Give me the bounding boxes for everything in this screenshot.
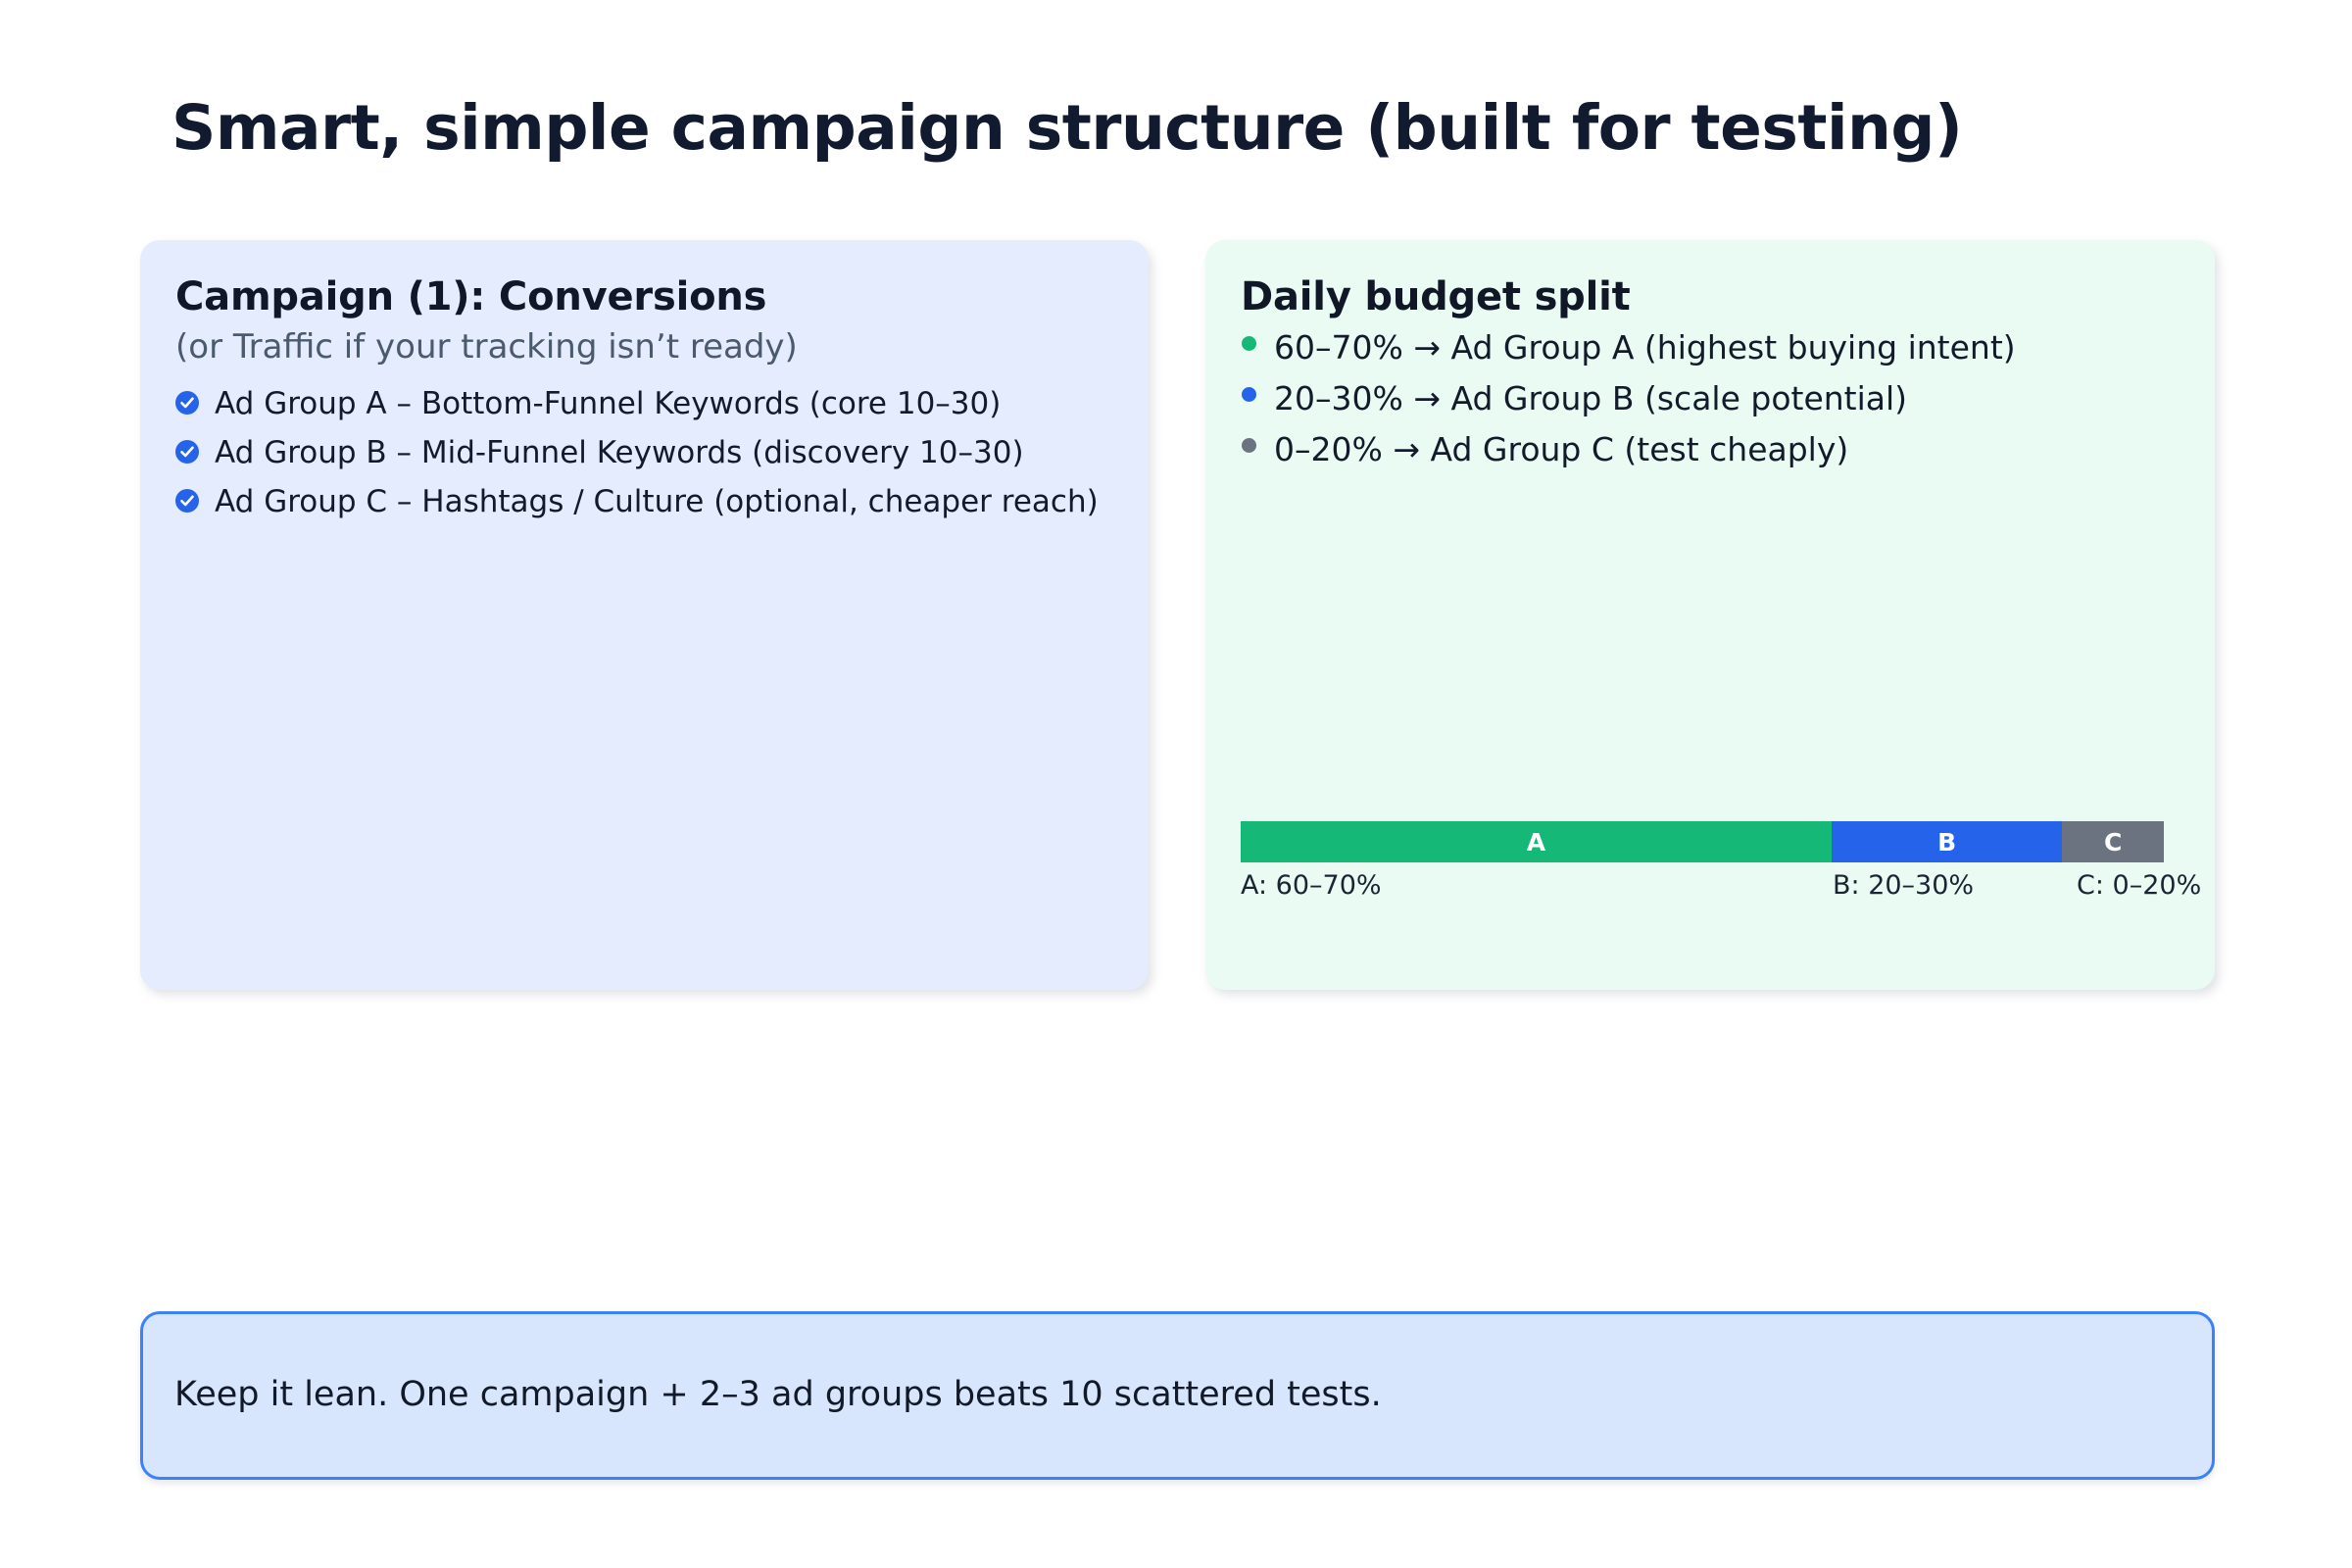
list-item: Ad Group A – Bottom-Funnel Keywords (cor… bbox=[175, 384, 1113, 424]
bar-segment-b: B bbox=[1832, 821, 2063, 862]
list-item: 60–70% → Ad Group A (highest buying inte… bbox=[1241, 326, 2180, 369]
campaign-card-subtitle: (or Traffic if your tracking isn’t ready… bbox=[175, 326, 1113, 368]
bullet-dot-icon bbox=[1242, 336, 1256, 351]
list-item: 20–30% → Ad Group B (scale potential) bbox=[1241, 377, 2180, 420]
bar-legend-c: C: 0–20% bbox=[2077, 870, 2201, 901]
campaign-card-title: Campaign (1): Conversions bbox=[175, 273, 1113, 320]
ad-group-list: Ad Group A – Bottom-Funnel Keywords (cor… bbox=[175, 384, 1113, 523]
page-title: Smart, simple campaign structure (built … bbox=[171, 92, 2278, 165]
list-item-label: Ad Group A – Bottom-Funnel Keywords (cor… bbox=[215, 386, 1001, 421]
list-item-label: Ad Group C – Hashtags / Culture (optiona… bbox=[215, 484, 1099, 519]
budget-split-list: 60–70% → Ad Group A (highest buying inte… bbox=[1241, 326, 2180, 472]
bar-segment-a: A bbox=[1241, 821, 1832, 862]
check-circle-icon bbox=[175, 391, 199, 415]
bar-segment-c: C bbox=[2062, 821, 2164, 862]
list-item-label: 0–20% → Ad Group C (test cheaply) bbox=[1274, 430, 1848, 468]
bar-legend-a: A: 60–70% bbox=[1241, 870, 1382, 901]
bullet-dot-icon bbox=[1242, 438, 1256, 453]
bar-legend-b: B: 20–30% bbox=[1833, 870, 1974, 901]
budget-split-card: Daily budget split 60–70% → Ad Group A (… bbox=[1205, 240, 2215, 990]
list-item: Ad Group B – Mid-Funnel Keywords (discov… bbox=[175, 433, 1113, 473]
cards-row: Campaign (1): Conversions (or Traffic if… bbox=[140, 240, 2215, 990]
list-item-label: Ad Group B – Mid-Funnel Keywords (discov… bbox=[215, 435, 1024, 470]
budget-split-chart: A B C A: 60–70% B: 20–30% C: 0–20% bbox=[1241, 821, 2164, 913]
campaign-structure-card: Campaign (1): Conversions (or Traffic if… bbox=[140, 240, 1149, 990]
list-item-label: 20–30% → Ad Group B (scale potential) bbox=[1274, 379, 1907, 417]
bullet-dot-icon bbox=[1242, 387, 1256, 402]
stacked-bar: A B C bbox=[1241, 821, 2164, 862]
list-item-label: 60–70% → Ad Group A (highest buying inte… bbox=[1274, 328, 2016, 367]
budget-card-title: Daily budget split bbox=[1241, 273, 2180, 320]
callout-text: Keep it lean. One campaign + 2–3 ad grou… bbox=[174, 1373, 1382, 1418]
list-item: 0–20% → Ad Group C (test cheaply) bbox=[1241, 428, 2180, 471]
list-item: Ad Group C – Hashtags / Culture (optiona… bbox=[175, 482, 1113, 522]
check-circle-icon bbox=[175, 440, 199, 464]
bar-legend: A: 60–70% B: 20–30% C: 0–20% bbox=[1241, 870, 2164, 913]
check-circle-icon bbox=[175, 489, 199, 513]
callout-box: Keep it lean. One campaign + 2–3 ad grou… bbox=[140, 1311, 2215, 1480]
